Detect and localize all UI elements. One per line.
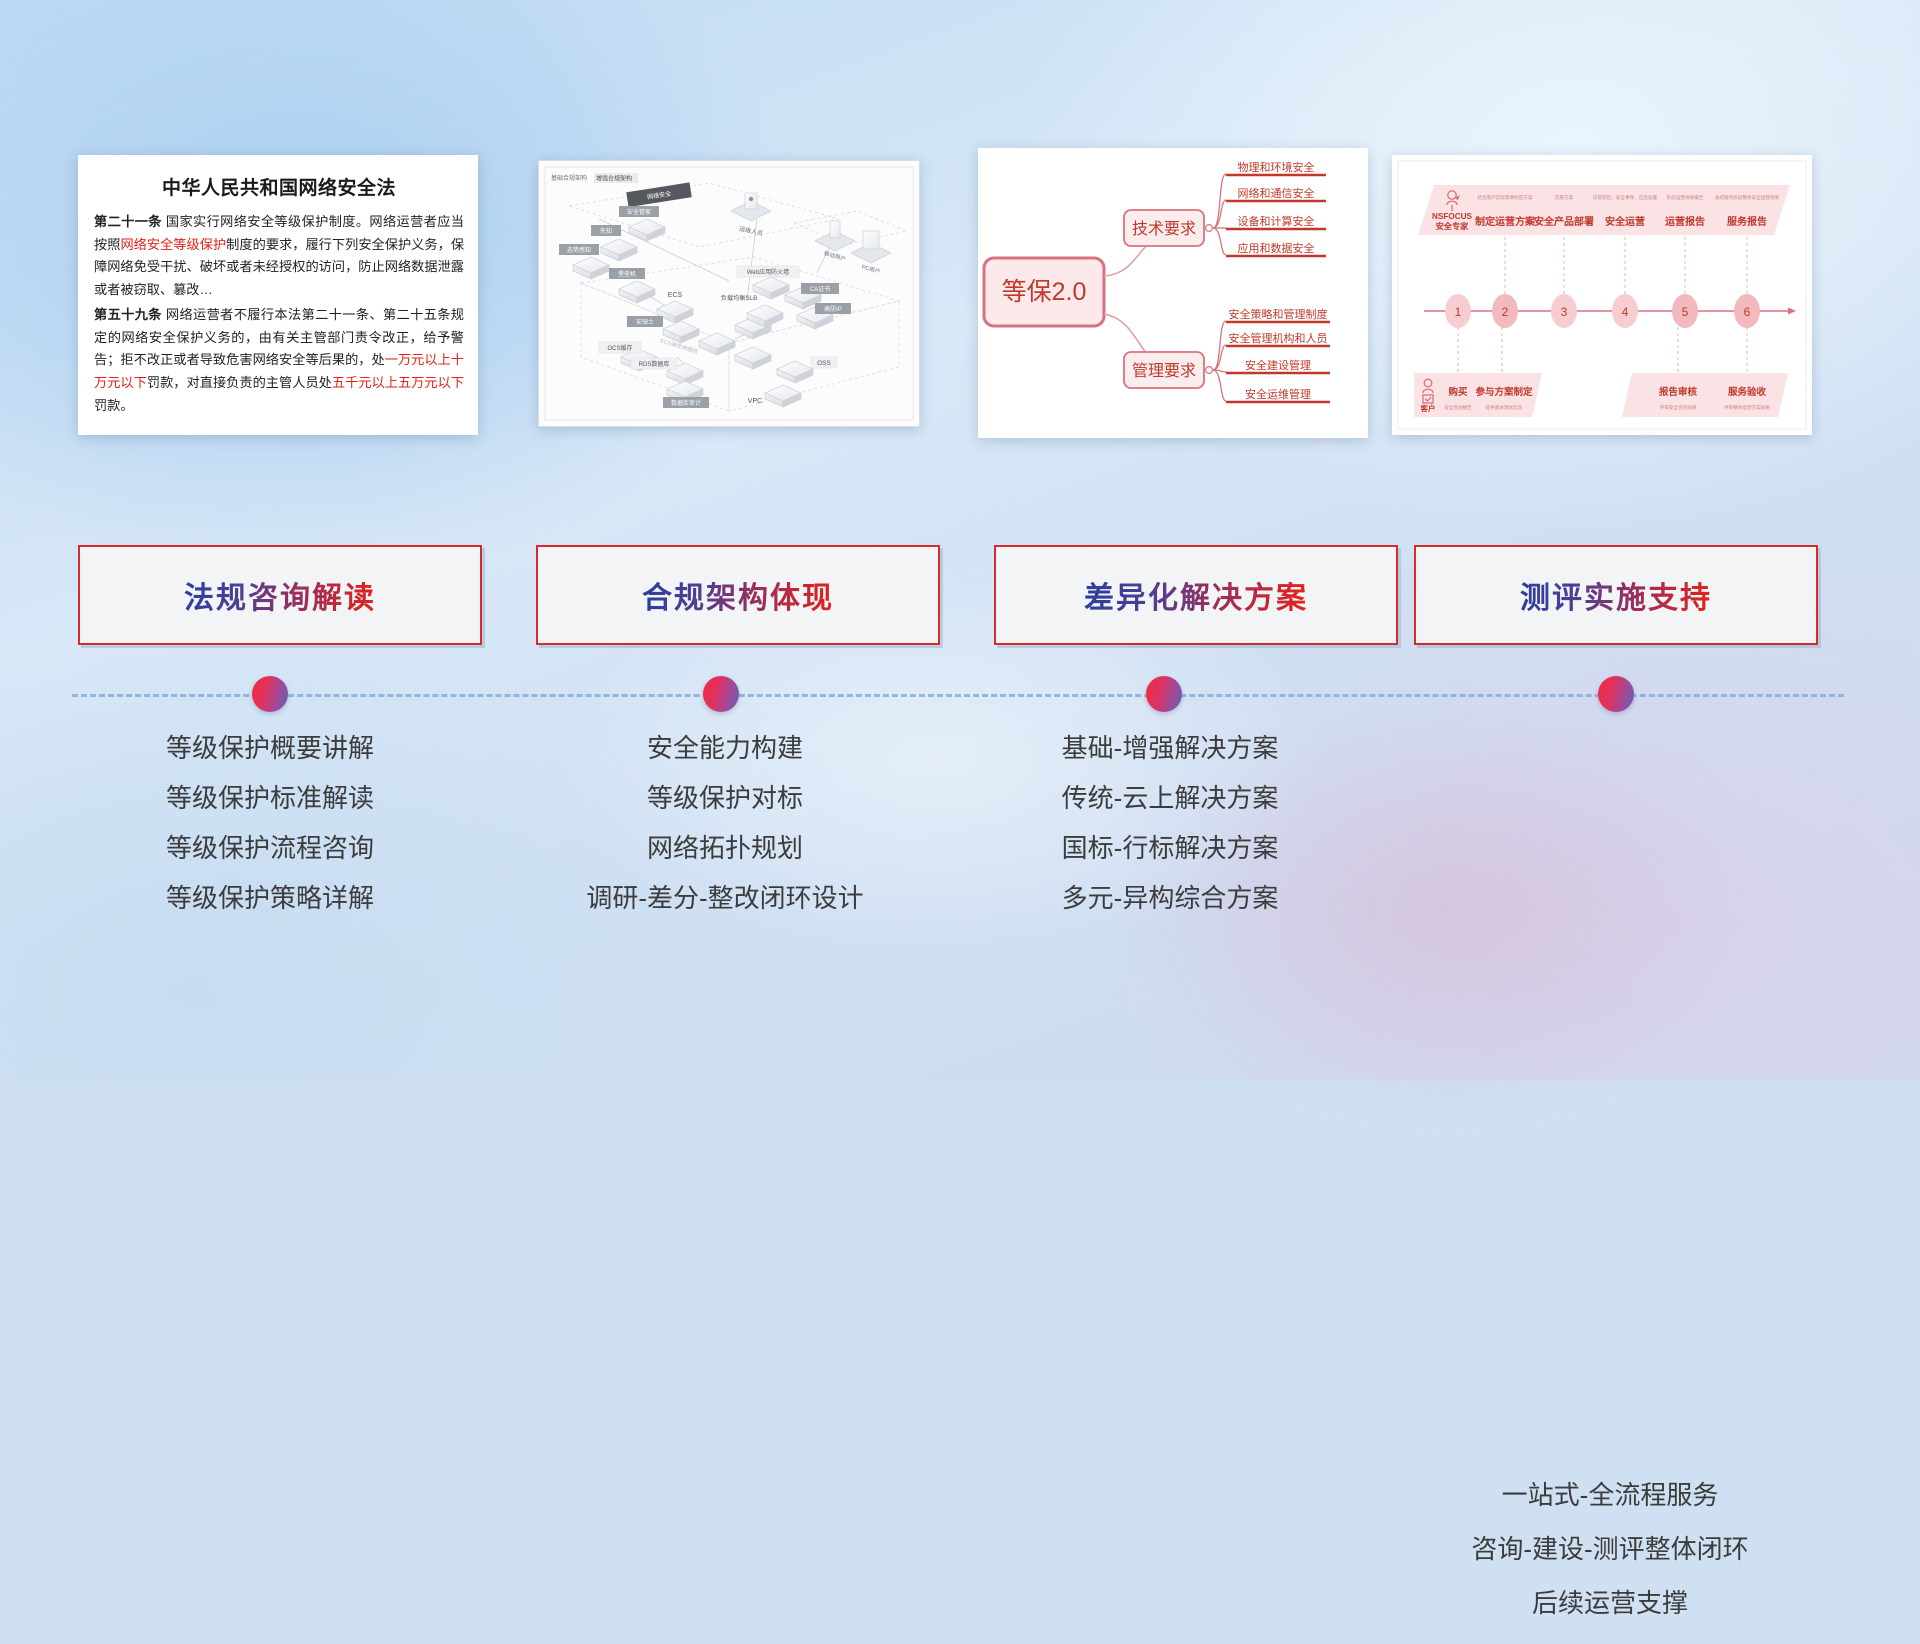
card-cybersecurity-law[interactable]: 中华人民共和国网络安全法 第二十一条 国家实行网络安全等级保护制度。网络运营者应… — [78, 155, 478, 435]
mindmap-branch-0-leaf-3: 应用和数据安全 — [1238, 241, 1315, 255]
flow-expert-role-line2: 安全专家 — [1436, 221, 1470, 231]
arch-node-oss: OSS — [817, 360, 831, 367]
flow-step-6-bottom-label: 服务验收 — [1728, 386, 1767, 398]
section-title-label-1: 合规架构体现 — [642, 573, 834, 617]
flow-step-num-4: 4 — [1622, 305, 1629, 319]
arch-tab-basic-label: 基础合规架构 — [551, 174, 587, 182]
flow-step-4-top-caption: 阶段运营效果报告 — [1667, 194, 1704, 201]
cloud-architecture-diagram: 基础合规架构 增强合规架构 网络安全 — [539, 161, 919, 426]
list-item: 国标-行标解决方案 — [950, 835, 1390, 861]
timeline-dot-0[interactable] — [252, 676, 288, 712]
mindmap-branch-1-leaf-1: 安全管理机构和人员 — [1229, 331, 1328, 345]
arch-node-anqishi: 安骑士 — [636, 318, 654, 326]
arch-node-ocs: OCS缓存 — [607, 344, 632, 352]
flow-step-num-1: 1 — [1455, 305, 1462, 319]
list-item: 安全能力构建 — [505, 735, 945, 761]
list-item: 后续运营支撑 — [1390, 1590, 1830, 1616]
list-item: 咨询-建设-测评整体闭环 — [1390, 1536, 1830, 1562]
mindmap-branch-0-leaf-1: 网络和通信安全 — [1238, 186, 1315, 200]
list-item: 等级保护策略详解 — [50, 885, 490, 911]
list-item: 多元-异构综合方案 — [950, 885, 1390, 911]
flow-step-2-top-caption: 实施方案 — [1555, 194, 1574, 201]
arch-node-rds: RDS数据库 — [639, 360, 670, 368]
nsfocus-service-timeline: NSFOCUS 安全专家 结合客户实际需要制定方案 制定运营方案 实施方案 安全… — [1392, 155, 1812, 435]
law-article-59-text-c: 罚款。 — [94, 398, 134, 413]
flow-step-num-3: 3 — [1561, 305, 1568, 319]
feature-list-column-3: 一站式-全流程服务 咨询-建设-测评整体闭环 后续运营支撑 — [1390, 1482, 1830, 1644]
timeline-dashed-line — [72, 694, 1844, 697]
flow-step-3-top-caption: 日常巡检、安全事件、应急处置 — [1593, 194, 1658, 201]
timeline-row — [0, 660, 1920, 720]
list-item: 等级保护流程咨询 — [50, 835, 490, 861]
flow-step-5-bottom-label: 报告审核 — [1659, 386, 1698, 398]
section-title-box-0[interactable]: 法规咨询解读 — [78, 545, 482, 645]
list-item: 传统-云上解决方案 — [950, 785, 1390, 811]
flow-step-num-5: 5 — [1682, 305, 1689, 319]
card-service-flow[interactable]: NSFOCUS 安全专家 结合客户实际需要制定方案 制定运营方案 实施方案 安全… — [1392, 155, 1812, 435]
section-title-label-3: 测评实施支持 — [1520, 573, 1712, 617]
dengbao-mindmap: 等保2.0 技术要求 物理和环境安全 网络和通信安全 设备和计算安全 应用和数据… — [978, 148, 1368, 438]
law-article-59-highlight-2: 五千元以上五万元以下 — [332, 375, 464, 390]
feature-list-row: 等级保护概要讲解 等级保护标准解读 等级保护流程咨询 等级保护策略详解 安全能力… — [0, 735, 1920, 995]
list-item: 等级保护对标 — [505, 785, 945, 811]
flow-step-1-bottom-caption: 安全咨询报告 — [1444, 404, 1472, 411]
arch-node-ecs: ECS — [668, 292, 683, 299]
arch-node-waf: Web应用防火墙 — [747, 268, 789, 276]
timeline-dot-2[interactable] — [1146, 676, 1182, 712]
section-title-row: 法规咨询解读 合规架构体现 差异化解决方案 测评实施支持 — [0, 545, 1920, 645]
list-item: 一站式-全流程服务 — [1390, 1482, 1830, 1508]
flow-step-1-top-label: 制定运营方案 — [1475, 215, 1536, 228]
law-article-59-label: 第五十九条 — [94, 307, 162, 322]
list-item: 基础-增强解决方案 — [950, 735, 1390, 761]
section-title-box-3[interactable]: 测评实施支持 — [1414, 545, 1818, 645]
section-title-label-0: 法规咨询解读 — [184, 573, 376, 617]
card-cloud-architecture[interactable]: 基础合规架构 增强合规架构 网络安全 — [538, 160, 920, 427]
arch-node-ca: CA证书 — [810, 285, 830, 293]
card-mindmap-dengbao[interactable]: 等保2.0 技术要求 物理和环境安全 网络和通信安全 设备和计算安全 应用和数据… — [978, 148, 1368, 438]
arch-node-anquanguanjia: 安全管家 — [627, 208, 651, 216]
card-row: 中华人民共和国网络安全法 第二十一条 国家实行网络安全等级保护制度。网络运营者应… — [0, 0, 1920, 470]
arch-node-shujukushenji: 数据库审计 — [671, 399, 701, 407]
arch-node-vpc: VPC — [748, 398, 762, 405]
timeline-dot-1[interactable] — [703, 676, 739, 712]
feature-list-column-1: 安全能力构建 等级保护对标 网络拓扑规划 调研-差分-整改闭环设计 — [505, 735, 945, 935]
flow-step-5-bottom-caption: 评审安全咨询效果 — [1660, 404, 1697, 411]
flow-step-1-top-caption: 结合客户实际需要制定方案 — [1477, 194, 1533, 201]
flow-step-4-top-label: 运营报告 — [1665, 215, 1705, 228]
flow-step-5-top-label: 服务报告 — [1727, 215, 1767, 228]
law-card-inner: 中华人民共和国网络安全法 第二十一条 国家实行网络安全等级保护制度。网络运营者应… — [78, 155, 478, 429]
flow-expert-role-line1: NSFOCUS — [1432, 212, 1473, 221]
flow-step-1-bottom-label: 购买 — [1448, 386, 1468, 398]
flow-step-6-bottom-caption: 评审整体运营方案效果 — [1724, 404, 1770, 411]
list-item: 网络拓扑规划 — [505, 835, 945, 861]
law-article-21: 第二十一条 国家实行网络安全等级保护制度。网络运营者应当按照网络安全等级保护制度… — [94, 211, 464, 302]
list-item: 等级保护概要讲解 — [50, 735, 490, 761]
flow-step-num-6: 6 — [1744, 305, 1751, 319]
section-title-label-2: 差异化解决方案 — [1084, 573, 1308, 617]
mindmap-branch-0-label: 技术要求 — [1132, 220, 1196, 238]
list-item: 等级保护标准解读 — [50, 785, 490, 811]
mindmap-branch-1-leaf-0: 安全策略和管理制度 — [1229, 307, 1328, 321]
flow-step-3-top-label: 安全运营 — [1605, 215, 1645, 228]
flow-step-5-top-caption: 总结服务阶段整体安全运营效果 — [1715, 194, 1780, 201]
feature-list-column-0: 等级保护概要讲解 等级保护标准解读 等级保护流程咨询 等级保护策略详解 — [50, 735, 490, 935]
arch-node-gaofangip: 高防IP — [824, 305, 842, 313]
mindmap-branch-1-label: 管理要求 — [1132, 362, 1196, 380]
arch-node-xianzhi: 先知 — [600, 227, 612, 235]
law-article-59: 第五十九条 网络运营者不履行本法第二十一条、第二十五条规定的网络安全保护义务的，… — [94, 304, 464, 418]
flow-customer-role: 客户 — [1420, 403, 1436, 413]
law-article-59-text-b: 罚款，对直接负责的主管人员处 — [147, 375, 332, 390]
arch-tab-enhanced-label: 增强合规架构 — [596, 175, 632, 183]
flow-step-2-top-label: 安全产品部署 — [1534, 215, 1594, 228]
section-title-box-1[interactable]: 合规架构体现 — [536, 545, 940, 645]
mindmap-branch-0-leaf-2: 设备和计算安全 — [1238, 214, 1315, 228]
section-title-box-2[interactable]: 差异化解决方案 — [994, 545, 1398, 645]
flow-step-num-2: 2 — [1502, 305, 1509, 319]
mindmap-branch-0-leaf-0: 物理和环境安全 — [1238, 160, 1315, 174]
law-article-21-highlight: 网络安全等级保护 — [120, 237, 226, 252]
feature-list-column-2: 基础-增强解决方案 传统-云上解决方案 国标-行标解决方案 多元-异构综合方案 — [950, 735, 1390, 935]
mindmap-root-label: 等保2.0 — [1002, 278, 1087, 306]
mindmap-branch-1-leaf-3: 安全运维管理 — [1245, 387, 1311, 401]
law-article-21-label: 第二十一条 — [94, 214, 162, 229]
timeline-dot-3[interactable] — [1598, 676, 1634, 712]
arch-node-taishiganzhi: 态势感知 — [567, 246, 591, 254]
mindmap-branch-1-leaf-2: 安全建设管理 — [1245, 358, 1311, 372]
flow-step-2-bottom-caption: 提供基本现状信息 — [1486, 404, 1523, 411]
flow-step-2-bottom-label: 参与方案制定 — [1474, 386, 1533, 398]
list-item: 调研-差分-整改闭环设计 — [505, 885, 945, 911]
law-title: 中华人民共和国网络安全法 — [94, 173, 464, 200]
arch-node-baoleiji: 堡垒机 — [618, 270, 636, 278]
arch-node-slb: 负载均衡SLB — [721, 294, 757, 302]
